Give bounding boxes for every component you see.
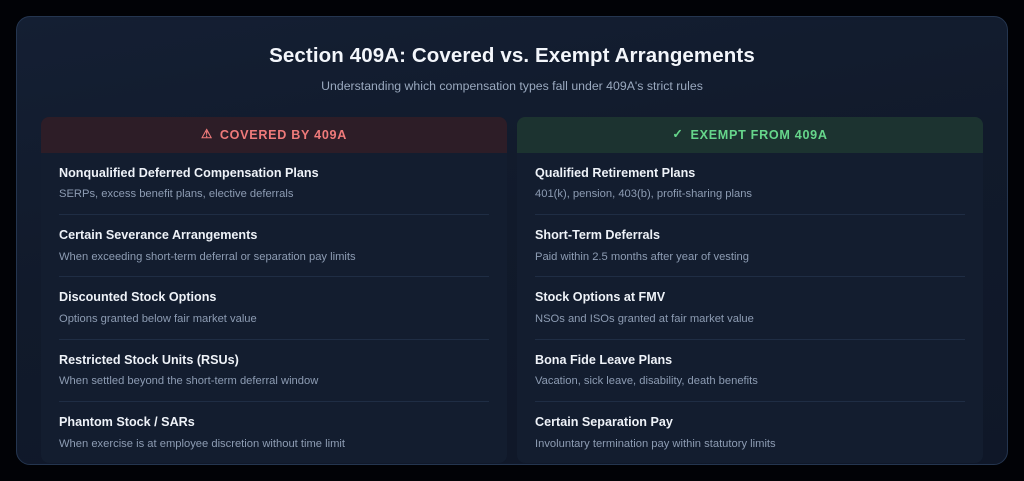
item-title: Certain Separation Pay (535, 415, 965, 431)
item-description: SERPs, excess benefit plans, elective de… (59, 187, 489, 202)
list-item[interactable]: Short-Term Deferrals Paid within 2.5 mon… (535, 214, 965, 276)
item-description: NSOs and ISOs granted at fair market val… (535, 312, 965, 327)
page-title: Section 409A: Covered vs. Exempt Arrange… (41, 43, 983, 69)
list-item[interactable]: Bona Fide Leave Plans Vacation, sick lea… (535, 339, 965, 401)
item-title: Restricted Stock Units (RSUs) (59, 353, 489, 369)
list-item[interactable]: Certain Severance Arrangements When exce… (59, 214, 489, 276)
item-description: Involuntary termination pay within statu… (535, 437, 965, 452)
check-icon: ✓ (672, 128, 683, 141)
list-item[interactable]: Certain Separation Pay Involuntary termi… (535, 401, 965, 463)
list-item[interactable]: Nonqualified Deferred Compensation Plans… (59, 153, 489, 214)
item-description: Options granted below fair market value (59, 312, 489, 327)
item-title: Certain Severance Arrangements (59, 228, 489, 244)
panel-covered-by-409a: ⚠ COVERED BY 409A Nonqualified Deferred … (41, 117, 507, 463)
infographic-card: Section 409A: Covered vs. Exempt Arrange… (16, 16, 1008, 465)
list-item[interactable]: Phantom Stock / SARs When exercise is at… (59, 401, 489, 463)
warning-triangle-icon: ⚠ (201, 128, 213, 141)
panel-body-exempt: Qualified Retirement Plans 401(k), pensi… (517, 153, 983, 463)
panel-header-exempt: ✓ EXEMPT FROM 409A (517, 117, 983, 153)
panel-header-label-covered: COVERED BY 409A (220, 128, 347, 142)
item-description: When exercise is at employee discretion … (59, 437, 489, 452)
list-item[interactable]: Discounted Stock Options Options granted… (59, 276, 489, 338)
list-item[interactable]: Qualified Retirement Plans 401(k), pensi… (535, 153, 965, 214)
item-title: Stock Options at FMV (535, 290, 965, 306)
item-description: Vacation, sick leave, disability, death … (535, 374, 965, 389)
item-title: Qualified Retirement Plans (535, 166, 965, 182)
panel-exempt-from-409a: ✓ EXEMPT FROM 409A Qualified Retirement … (517, 117, 983, 463)
item-title: Bona Fide Leave Plans (535, 353, 965, 369)
item-title: Phantom Stock / SARs (59, 415, 489, 431)
item-title: Short-Term Deferrals (535, 228, 965, 244)
item-description: When exceeding short-term deferral or se… (59, 250, 489, 265)
panel-body-covered: Nonqualified Deferred Compensation Plans… (41, 153, 507, 463)
panel-header-covered: ⚠ COVERED BY 409A (41, 117, 507, 153)
item-description: 401(k), pension, 403(b), profit-sharing … (535, 187, 965, 202)
comparison-columns: ⚠ COVERED BY 409A Nonqualified Deferred … (41, 117, 983, 463)
list-item[interactable]: Stock Options at FMV NSOs and ISOs grant… (535, 276, 965, 338)
item-description: Paid within 2.5 months after year of ves… (535, 250, 965, 265)
item-title: Discounted Stock Options (59, 290, 489, 306)
list-item[interactable]: Restricted Stock Units (RSUs) When settl… (59, 339, 489, 401)
item-title: Nonqualified Deferred Compensation Plans (59, 166, 489, 182)
item-description: When settled beyond the short-term defer… (59, 374, 489, 389)
panel-header-label-exempt: EXEMPT FROM 409A (691, 128, 828, 142)
page-subtitle: Understanding which compensation types f… (41, 79, 983, 95)
